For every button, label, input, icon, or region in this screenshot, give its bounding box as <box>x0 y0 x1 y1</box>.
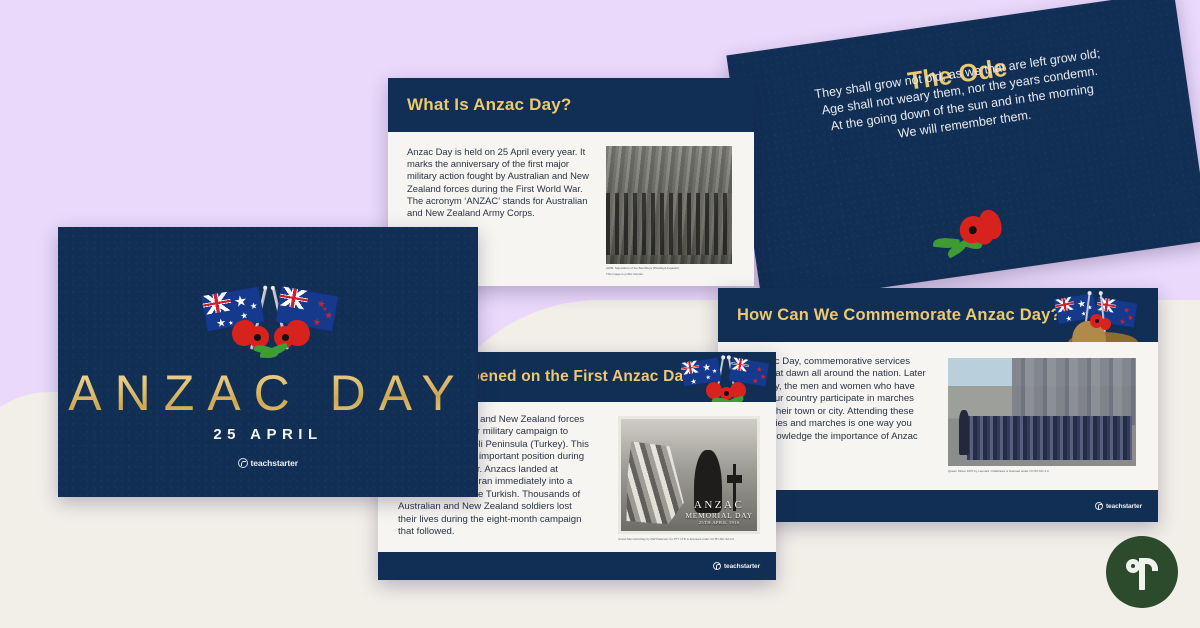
image-overlay-text: ANZAC MEMORIAL DAY 25TH APRIL 1916 <box>685 499 753 525</box>
teachstarter-logo: teachstarter <box>1095 502 1142 510</box>
image-overlay-date: 25TH APRIL 1916 <box>685 520 753 525</box>
slide-title-anzac-day[interactable]: ANZAC DAY 25 APRIL teachstarter <box>58 227 478 497</box>
slide-body-panel: On Anzac Day, commemorative services are… <box>718 342 1158 490</box>
image-caption-note: This image is public domain. <box>606 273 738 277</box>
teachstarter-badge[interactable] <box>1106 536 1178 608</box>
slide-image <box>606 146 732 264</box>
slide-body-text: Anzac Day is held on 25 April every year… <box>407 146 593 219</box>
teachstarter-wordmark: teachstarter <box>251 458 298 468</box>
teachstarter-logo: teachstarter <box>58 458 478 468</box>
slide-image: ANZAC MEMORIAL DAY 25TH APRIL 1916 <box>618 416 760 534</box>
slide-header-bar: What Is Anzac Day? <box>388 78 754 132</box>
page-title: ANZAC DAY <box>58 364 478 422</box>
image-caption: Anzac Memorial Day by DW Paterson Co PTY… <box>618 538 768 542</box>
crossed-flags-poppies-emblem <box>196 282 342 362</box>
page-subtitle-date: 25 APRIL <box>58 426 478 443</box>
slide-footer-bar: teachstarter <box>718 490 1158 522</box>
paper-texture <box>58 227 478 497</box>
image-caption: Queen Street 1970 by Leonard J Matthews … <box>948 470 1138 474</box>
poppy-cluster-decoration <box>927 202 1033 264</box>
teachstarter-logo: teachstarter <box>713 562 760 570</box>
poster-canvas: The Ode They shall grow not old, as we t… <box>0 0 1200 628</box>
slide-footer-bar: teachstarter <box>378 552 776 580</box>
slide-commemorate-anzac-day[interactable]: How Can We Commemorate Anzac Day? <box>718 288 1158 522</box>
image-caption: AWM: Separation of the Best Boys (Pixaba… <box>606 267 738 271</box>
image-overlay-subtitle: MEMORIAL DAY <box>685 511 753 520</box>
slide-title: How Can We Commemorate Anzac Day? <box>737 306 1061 325</box>
image-overlay-title: ANZAC <box>685 499 753 511</box>
teachstarter-glyph-icon <box>1125 554 1159 590</box>
slide-image <box>948 358 1136 466</box>
slide-title: What Is Anzac Day? <box>407 95 572 115</box>
teachstarter-wordmark: teachstarter <box>1106 503 1142 510</box>
teachstarter-circle-icon <box>1095 502 1103 510</box>
teachstarter-circle-icon <box>713 562 721 570</box>
teachstarter-wordmark: teachstarter <box>724 563 760 570</box>
slide-the-ode[interactable]: The Ode They shall grow not old, as we t… <box>726 0 1200 305</box>
teachstarter-circle-icon <box>238 458 248 468</box>
ode-verse: They shall grow not old, as we that are … <box>746 35 1175 162</box>
